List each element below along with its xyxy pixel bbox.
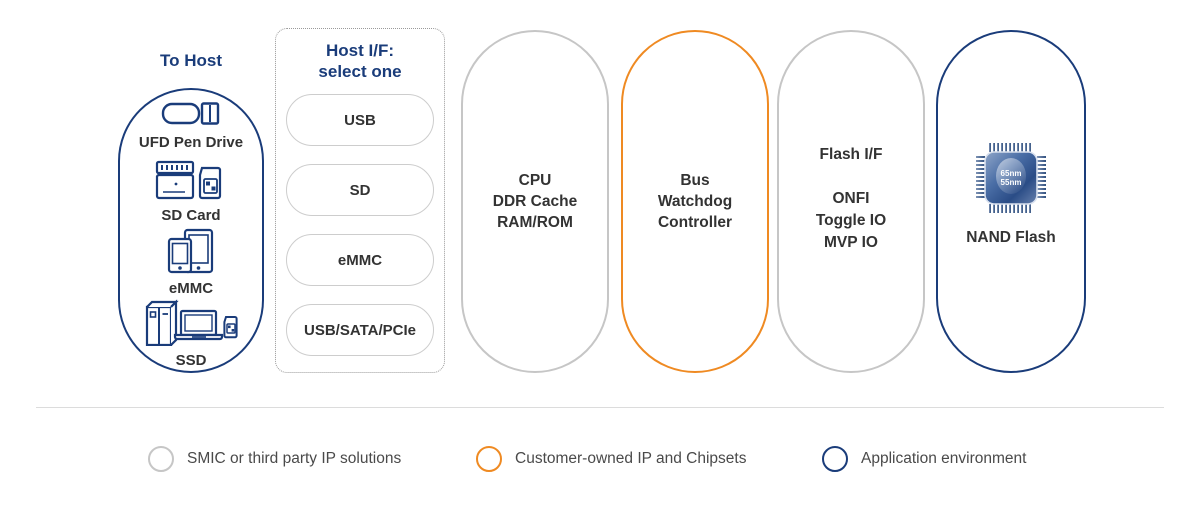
- legend-label: Application environment: [861, 450, 1026, 468]
- host-item-emmc: eMMC: [118, 228, 264, 297]
- host-interface-option-sd[interactable]: SD: [286, 164, 434, 216]
- host-item-sd-card: SD Card: [118, 159, 264, 224]
- host-item-label: UFD Pen Drive: [118, 134, 264, 151]
- host-item-label: SSD: [118, 352, 264, 369]
- host-item-ssd: SSD: [118, 298, 264, 369]
- legend-label: SMIC or third party IP solutions: [187, 450, 401, 468]
- legend-ring-gray-icon: [148, 446, 174, 472]
- legend-item-application-environment: Application environment: [822, 446, 1026, 472]
- legend-ring-orange-icon: [476, 446, 502, 472]
- host-interface-option-emmc[interactable]: eMMC: [286, 234, 434, 286]
- nand-flash-content: 65nm 55nm NAND Flash: [936, 140, 1086, 247]
- host-interface-option-usb[interactable]: USB: [286, 94, 434, 146]
- host-item-ufd-pen-drive: UFD Pen Drive: [118, 98, 264, 151]
- flash-interface-block: Flash I/F ONFI Toggle IO MVP IO: [777, 30, 925, 373]
- host-interface-heading: Host I/F: select one: [280, 40, 440, 82]
- desktop-laptop-ssd-icon: [118, 298, 264, 351]
- to-host-heading: To Host: [118, 50, 264, 71]
- nand-chip-text-line1: 65nm: [1001, 169, 1022, 178]
- bus-watchdog-controller-block: Bus Watchdog Controller: [621, 30, 769, 373]
- nand-chip-text-line2: 55nm: [1001, 178, 1022, 187]
- nand-flash-figure: 65nm 55nm NAND Flash: [936, 140, 1086, 247]
- to-host-items: UFD Pen Drive: [118, 88, 264, 373]
- host-interface-option-usb-sata-pcie[interactable]: USB/SATA/PCIe: [286, 304, 434, 356]
- nand-flash-chip-icon: 65nm 55nm: [973, 140, 1049, 221]
- section-divider: [36, 407, 1164, 408]
- nand-flash-label: NAND Flash: [936, 229, 1086, 247]
- cpu-block-label: CPU DDR Cache RAM/ROM: [493, 170, 577, 233]
- flash-interface-label: Flash I/F ONFI Toggle IO MVP IO: [816, 144, 886, 254]
- usb-flash-drive-icon: [118, 98, 264, 133]
- sd-card-icon: [118, 159, 264, 206]
- diagram-canvas: To Host UFD Pen Drive: [0, 0, 1200, 510]
- legend-ring-navy-icon: [822, 446, 848, 472]
- host-item-label: eMMC: [118, 280, 264, 297]
- host-item-label: SD Card: [118, 207, 264, 224]
- legend-label: Customer-owned IP and Chipsets: [515, 450, 746, 468]
- legend-item-customer-owned: Customer-owned IP and Chipsets: [476, 446, 746, 472]
- cpu-block: CPU DDR Cache RAM/ROM: [461, 30, 609, 373]
- bus-watchdog-controller-label: Bus Watchdog Controller: [658, 170, 732, 233]
- mobile-phones-icon: [118, 228, 264, 279]
- legend-item-smic: SMIC or third party IP solutions: [148, 446, 401, 472]
